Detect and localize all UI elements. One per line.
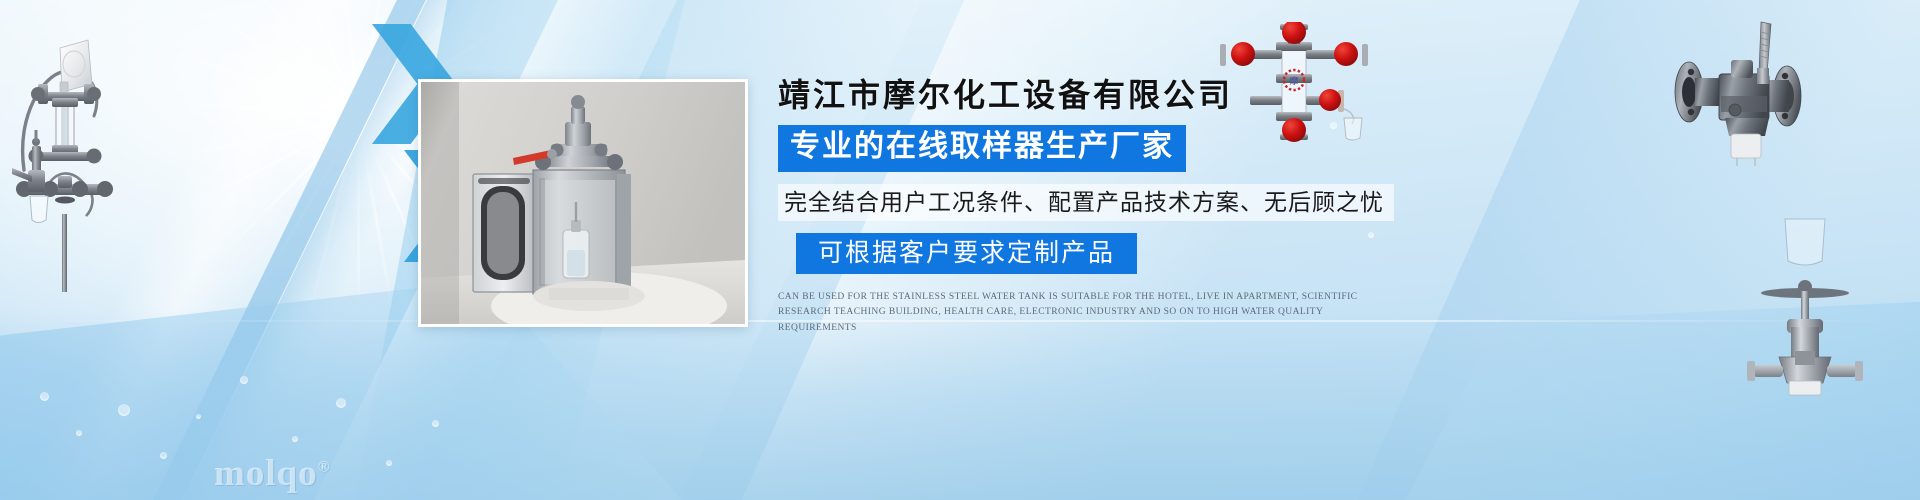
water-drop-icon	[432, 420, 439, 427]
online-sampler-device	[10, 18, 210, 308]
tagline-secondary: 完全结合用户工况条件、配置产品技术方案、无后顾之忧	[778, 184, 1394, 221]
photo-image	[421, 82, 745, 324]
cross-valve-assembly: 摩	[1210, 22, 1380, 142]
watermark-registered-mark: ®	[318, 459, 331, 476]
water-drop-icon	[196, 414, 201, 419]
sampling-cabinet-photo	[418, 79, 748, 327]
english-description: CAN BE USED FOR THE STAINLESS STEEL WATE…	[778, 290, 1388, 336]
tagline-tertiary: 可根据客户要求定制产品	[796, 233, 1137, 274]
angle-flange-valve	[1665, 18, 1815, 173]
water-drop-icon	[160, 452, 167, 459]
svg-text:摩: 摩	[1289, 75, 1298, 86]
tagline-primary: 专业的在线取样器生产厂家	[778, 125, 1186, 171]
water-drop-icon	[118, 404, 130, 416]
water-drop-icon	[336, 398, 346, 408]
water-drop-icon	[386, 460, 392, 466]
water-drop-icon	[240, 376, 248, 384]
water-drop-icon	[292, 436, 298, 442]
water-drop-icon	[76, 430, 82, 436]
watermark-text: molqo	[214, 453, 318, 494]
promo-banner: 靖江市摩尔化工设备有限公司 专业的在线取样器生产厂家 完全结合用户工况条件、配置…	[0, 0, 1920, 500]
water-drop-icon	[40, 392, 49, 401]
watermark-logo: molqo®	[214, 452, 331, 495]
bottom-needle-valve	[1745, 215, 1865, 400]
